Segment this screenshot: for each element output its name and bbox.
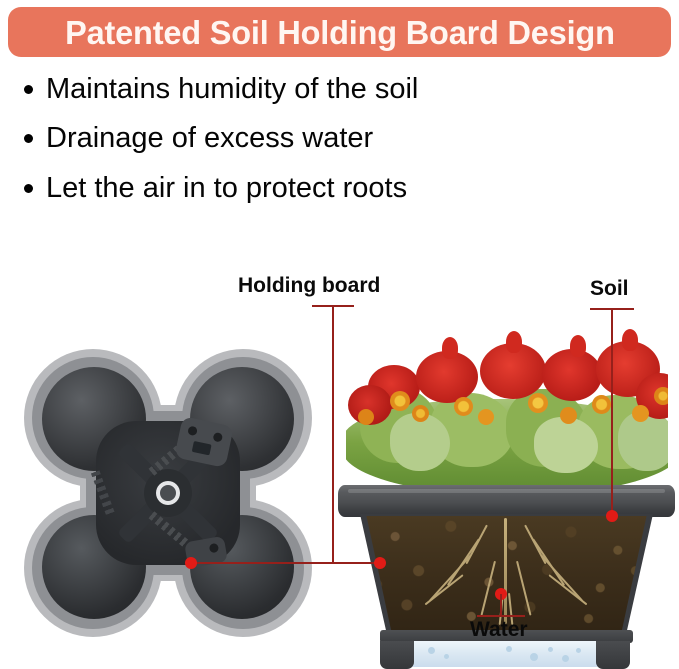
- leader-dot-board: [185, 557, 197, 569]
- pot-foot: [596, 641, 630, 669]
- label-soil: Soil: [590, 277, 629, 301]
- product-diagram: Holding board Soil Water: [0, 255, 679, 651]
- page-title: Patented Soil Holding Board Design: [65, 16, 615, 49]
- label-water: Water: [470, 618, 528, 642]
- leader-underline-water: [477, 615, 525, 617]
- feature-text: Maintains humidity of the soil: [46, 72, 418, 107]
- leader-horizontal-holding-board: [190, 562, 380, 564]
- flower-bed: [346, 313, 668, 495]
- leader-vertical-soil: [611, 308, 613, 515]
- bullet-point-icon: [24, 134, 33, 143]
- label-holding-board: Holding board: [238, 274, 380, 298]
- planter-cross-section: [338, 313, 675, 603]
- feature-text: Let the air in to protect roots: [46, 171, 407, 206]
- list-item: Drainage of excess water: [18, 121, 638, 156]
- pot-foot: [380, 641, 414, 669]
- leader-vertical-holding-board: [332, 305, 334, 563]
- pot-rim-highlight: [348, 489, 665, 493]
- bullet-point-icon: [24, 85, 33, 94]
- list-item: Let the air in to protect roots: [18, 171, 638, 206]
- bullet-point-icon: [24, 184, 33, 193]
- soil-holding-board-top-view: [18, 343, 318, 643]
- leader-dot-soil: [606, 510, 618, 522]
- leader-vertical-water: [500, 594, 502, 616]
- feature-text: Drainage of excess water: [46, 121, 373, 156]
- list-item: Maintains humidity of the soil: [18, 72, 638, 107]
- header-banner: Patented Soil Holding Board Design: [8, 7, 671, 57]
- water-reservoir: [410, 641, 600, 667]
- feature-list: Maintains humidity of the soil Drainage …: [18, 72, 638, 220]
- leader-dot-pot-board: [374, 557, 386, 569]
